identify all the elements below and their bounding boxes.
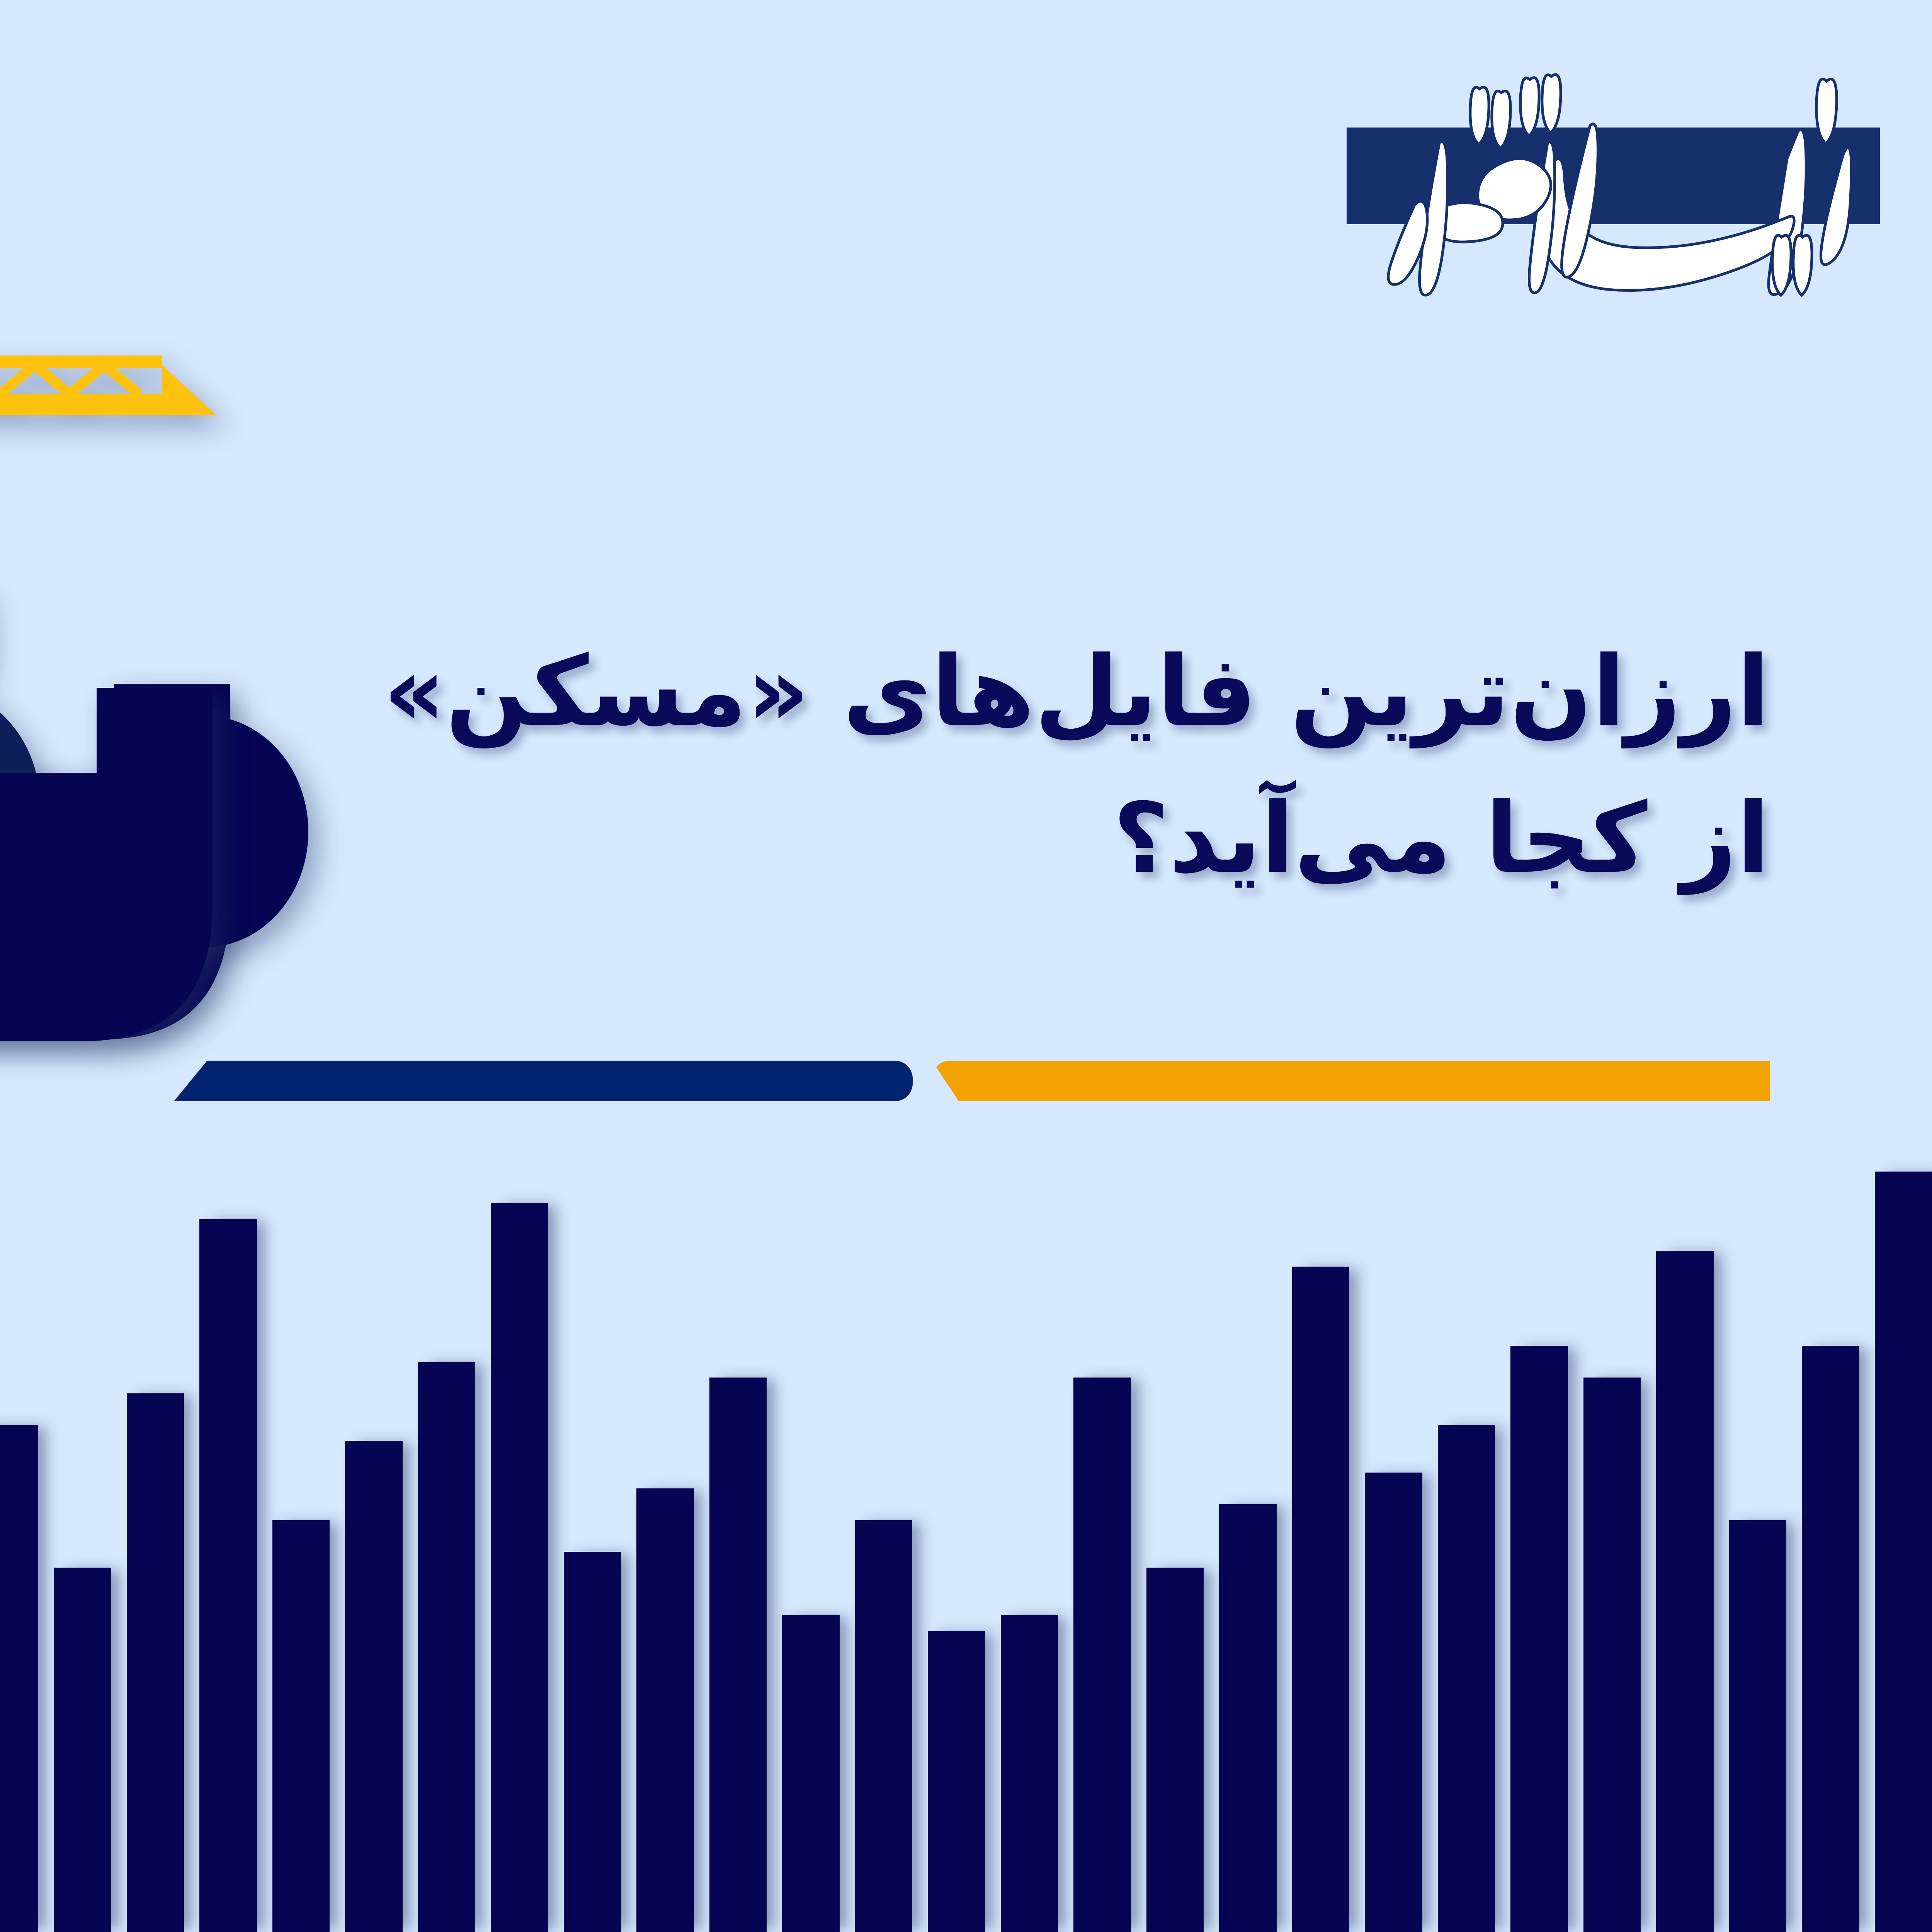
bar [1001, 1615, 1058, 1932]
infographic-canvas: ارزان‌ترین فایل‌های «مسکن» از کجا می‌آید… [0, 0, 1932, 1932]
bar [1583, 1378, 1641, 1932]
accent-rule-orange-segment [932, 1061, 1770, 1101]
bar [54, 1568, 111, 1932]
decorative-circle [100, 716, 308, 947]
bar [782, 1615, 840, 1932]
bar [1073, 1378, 1131, 1932]
crane-level-illustration [0, 155, 348, 1005]
bar [636, 1488, 694, 1932]
bar [709, 1378, 767, 1932]
bar [1365, 1473, 1422, 1932]
bar [1510, 1346, 1568, 1932]
bar [0, 1425, 38, 1932]
headline-line-2: از کجا می‌آید؟ [340, 765, 1770, 912]
crane-jib [0, 355, 216, 415]
accent-rule-navy-segment [174, 1061, 913, 1101]
pie-chart-load [0, 684, 55, 927]
bar [272, 1520, 330, 1932]
headline-line-1: ارزان‌ترین فایل‌های «مسکن» [340, 618, 1770, 765]
bar [127, 1393, 184, 1932]
bar [1802, 1346, 1859, 1932]
bar [418, 1362, 476, 1932]
bar [1438, 1425, 1495, 1932]
accent-rule [174, 1061, 1770, 1101]
bar [491, 1203, 548, 1932]
bar [855, 1520, 913, 1932]
bar-chart [0, 1140, 1932, 1932]
bar [1146, 1568, 1204, 1932]
headline: ارزان‌ترین فایل‌های «مسکن» از کجا می‌آید… [340, 618, 1770, 912]
bar [1729, 1520, 1787, 1932]
bar [345, 1441, 403, 1932]
bar [564, 1552, 621, 1932]
bar [199, 1219, 257, 1932]
bar [1875, 1172, 1932, 1932]
bar [928, 1631, 985, 1932]
brand-logo-calligraphy [1323, 54, 1903, 301]
bar [1656, 1251, 1714, 1932]
bar [1219, 1504, 1277, 1932]
bar [1292, 1267, 1350, 1932]
brand-logo[interactable] [1347, 128, 1880, 224]
